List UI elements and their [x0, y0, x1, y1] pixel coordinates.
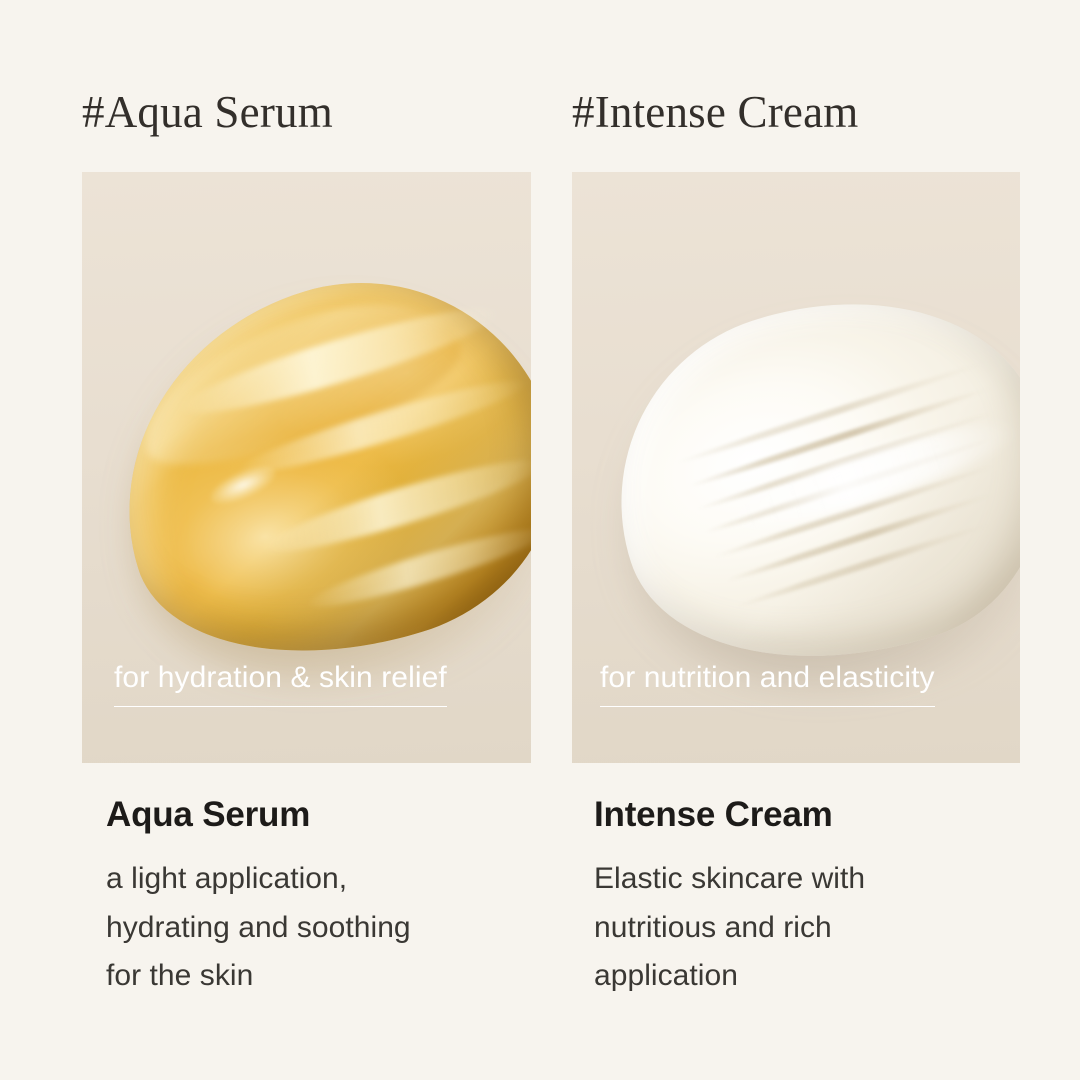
product-column-aqua-serum: #Aqua Serum for hydration & skin relief …	[82, 0, 572, 1080]
product-description-intense-cream: Elastic skincare with nutritious and ric…	[594, 855, 1034, 1001]
description-line: a light application,	[106, 855, 546, 904]
product-comparison-page: #Aqua Serum for hydration & skin relief …	[0, 0, 1080, 1080]
description-line: for the skin	[106, 952, 546, 1001]
product-image-panel-intense-cream[interactable]: for nutrition and elasticity	[572, 172, 1020, 763]
hashtag-heading-intense-cream: #Intense Cream	[572, 88, 858, 138]
product-image-panel-aqua-serum[interactable]: for hydration & skin relief	[82, 172, 531, 763]
product-title-intense-cream: Intense Cream	[594, 795, 1034, 835]
description-line: Elastic skincare with	[594, 855, 1034, 904]
product-copy-aqua-serum: Aqua Serum a light application, hydratin…	[106, 795, 546, 1001]
description-line: application	[594, 952, 1034, 1001]
product-copy-intense-cream: Intense Cream Elastic skincare with nutr…	[594, 795, 1034, 1001]
product-column-intense-cream: #Intense Cream for nutrition and elastic…	[572, 0, 1062, 1080]
image-caption-intense-cream: for nutrition and elasticity	[600, 659, 935, 708]
description-line: hydrating and soothing	[106, 904, 546, 953]
product-columns: #Aqua Serum for hydration & skin relief …	[0, 0, 1080, 1080]
description-line: nutritious and rich	[594, 904, 1034, 953]
hashtag-heading-aqua-serum: #Aqua Serum	[82, 88, 333, 138]
product-description-aqua-serum: a light application, hydrating and sooth…	[106, 855, 546, 1001]
image-caption-aqua-serum: for hydration & skin relief	[114, 659, 447, 708]
product-title-aqua-serum: Aqua Serum	[106, 795, 546, 835]
